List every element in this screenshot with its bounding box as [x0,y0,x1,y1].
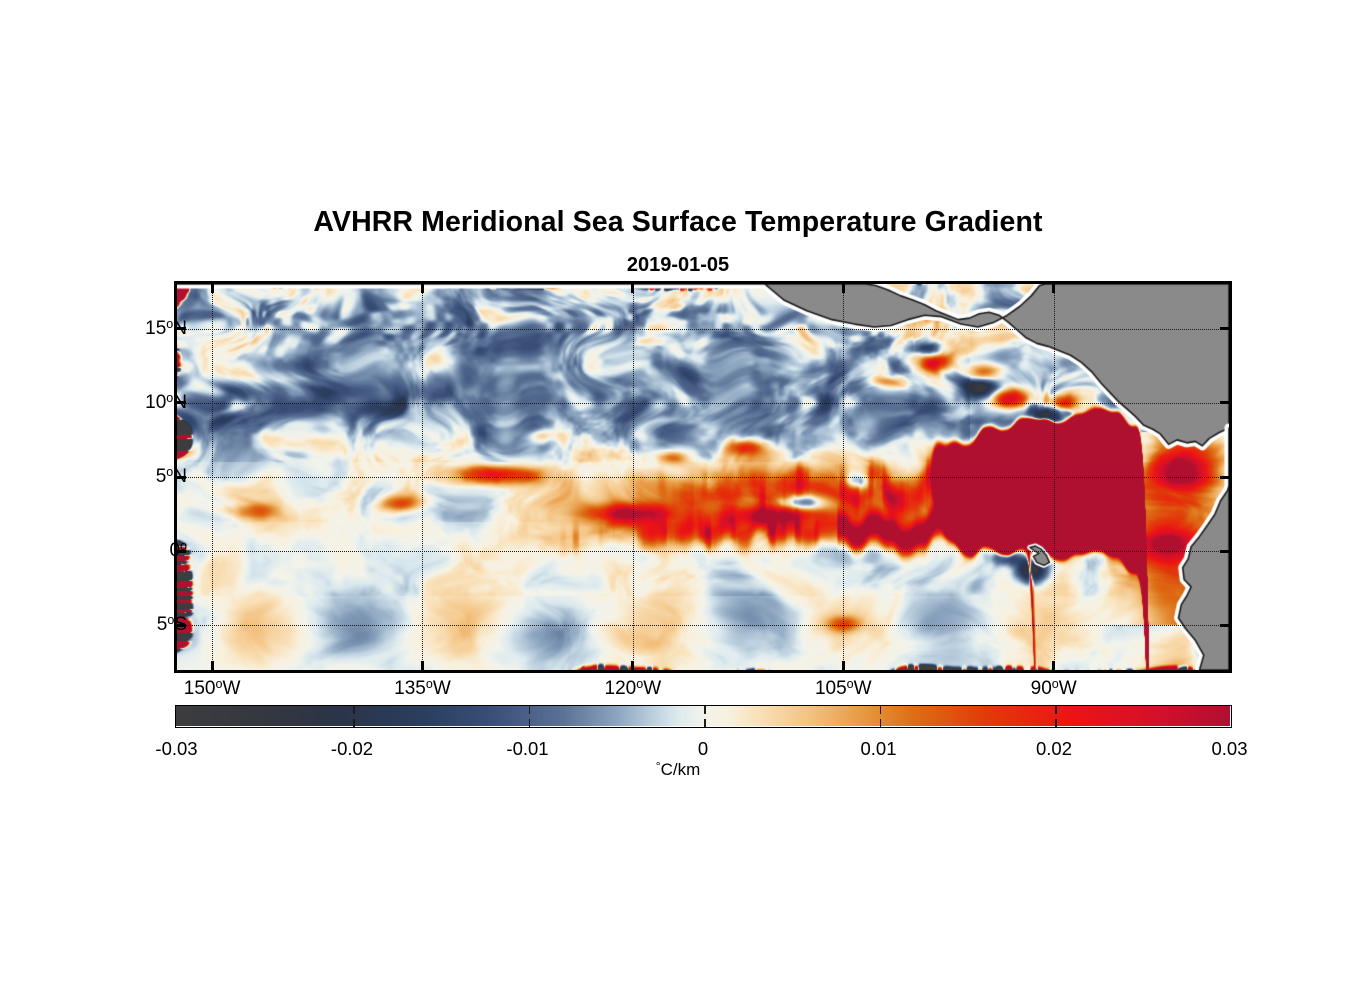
colorbar-tick [704,719,706,727]
latitude-label: 10oN [145,393,187,412]
colorbar [175,705,1232,728]
colorbar-unit-label: °C/km [0,760,1356,780]
colorbar-frame [175,705,1232,728]
page-title: AVHRR Meridional Sea Surface Temperature… [0,206,1356,239]
colorbar-tick [1055,706,1057,714]
degree-symbol-icon: ° [656,759,661,773]
colorbar-tick [704,706,706,714]
longitude-label: 120oW [605,679,662,698]
colorbar-tick [880,706,882,714]
colorbar-tick-label: -0.02 [331,738,373,760]
longitude-label: 150oW [184,679,241,698]
colorbar-tick-label: 0 [698,738,708,760]
colorbar-tick-label: 0.03 [1211,738,1247,760]
colorbar-tick [880,719,882,727]
colorbar-tick [529,706,531,714]
subtitle-date: 2019-01-05 [0,254,1356,277]
latitude-label: 0o [169,541,187,560]
coastline-land-overlay [177,284,1229,670]
latitude-label: 5oN [156,467,187,486]
longitude-label: 105oW [815,679,872,698]
latitude-label: 5oS [157,615,187,634]
colorbar-tick-label: 0.02 [1036,738,1072,760]
map-axes [174,281,1232,673]
colorbar-tick-label: 0.01 [860,738,896,760]
colorbar-tick-label: -0.03 [155,738,197,760]
colorbar-tick [529,719,531,727]
colorbar-tick [353,706,355,714]
colorbar-tick-label: -0.01 [506,738,548,760]
latitude-label: 15oN [145,319,187,338]
figure-canvas: AVHRR Meridional Sea Surface Temperature… [0,0,1356,1000]
colorbar-tick [1055,719,1057,727]
longitude-label: 135oW [394,679,451,698]
colorbar-tick [353,719,355,727]
colorbar-gradient [176,706,1230,726]
longitude-label: 90oW [1031,679,1077,698]
